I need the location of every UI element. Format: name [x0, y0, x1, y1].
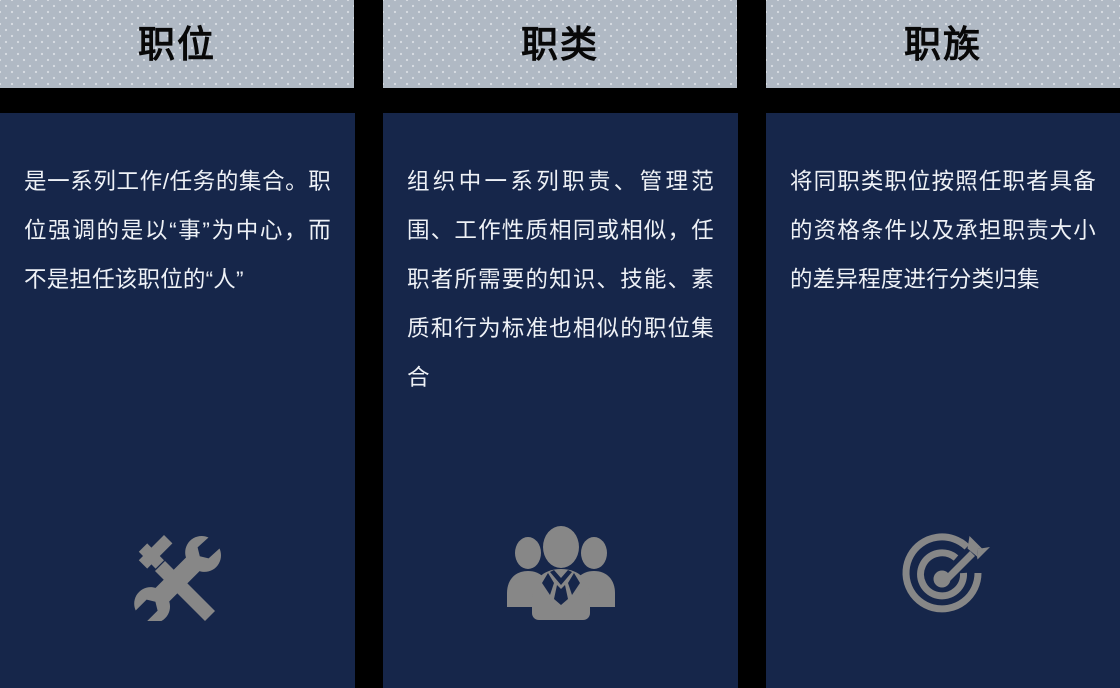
panel-text-job-position: 是一系列工作/任务的集合。职位强调的是以“事”为中心，而不是担任该职位的“人” — [24, 157, 331, 304]
group-of-people-icon — [506, 525, 616, 621]
hammer-and-wrench-icon — [130, 525, 226, 621]
header-card-job-position[interactable]: 职位 — [0, 0, 354, 88]
infographic-board: 职位 职类 职族 是一系列工作/任务的集合。职位强调的是以“事”为中心，而不是担… — [0, 0, 1120, 688]
icon-target-with-arrow-wrap — [766, 525, 1120, 625]
panel-text-job-class: 组织中一系列职责、管理范围、工作性质相同或相似，任职者所需要的知识、技能、素质和… — [407, 157, 714, 402]
panel-text-job-family: 将同职类职位按照任职者具备的资格条件以及承担职责大小的差异程度进行分类归集 — [790, 157, 1096, 304]
header-row: 职位 职类 职族 — [0, 0, 1120, 88]
panel-job-family: 将同职类职位按照任职者具备的资格条件以及承担职责大小的差异程度进行分类归集 — [766, 113, 1120, 688]
header-card-job-class[interactable]: 职类 — [383, 0, 737, 88]
header-title-job-class: 职类 — [521, 26, 599, 63]
panel-job-position: 是一系列工作/任务的集合。职位强调的是以“事”为中心，而不是担任该职位的“人” — [0, 113, 355, 688]
icon-hammer-and-wrench-wrap — [0, 525, 355, 621]
icon-group-of-people-wrap — [383, 525, 738, 621]
target-with-arrow-icon — [893, 525, 993, 625]
header-title-job-family: 职族 — [904, 26, 982, 63]
header-title-job-position: 职位 — [138, 26, 216, 63]
panel-job-class: 组织中一系列职责、管理范围、工作性质相同或相似，任职者所需要的知识、技能、素质和… — [383, 113, 738, 688]
header-card-job-family[interactable]: 职族 — [766, 0, 1120, 88]
